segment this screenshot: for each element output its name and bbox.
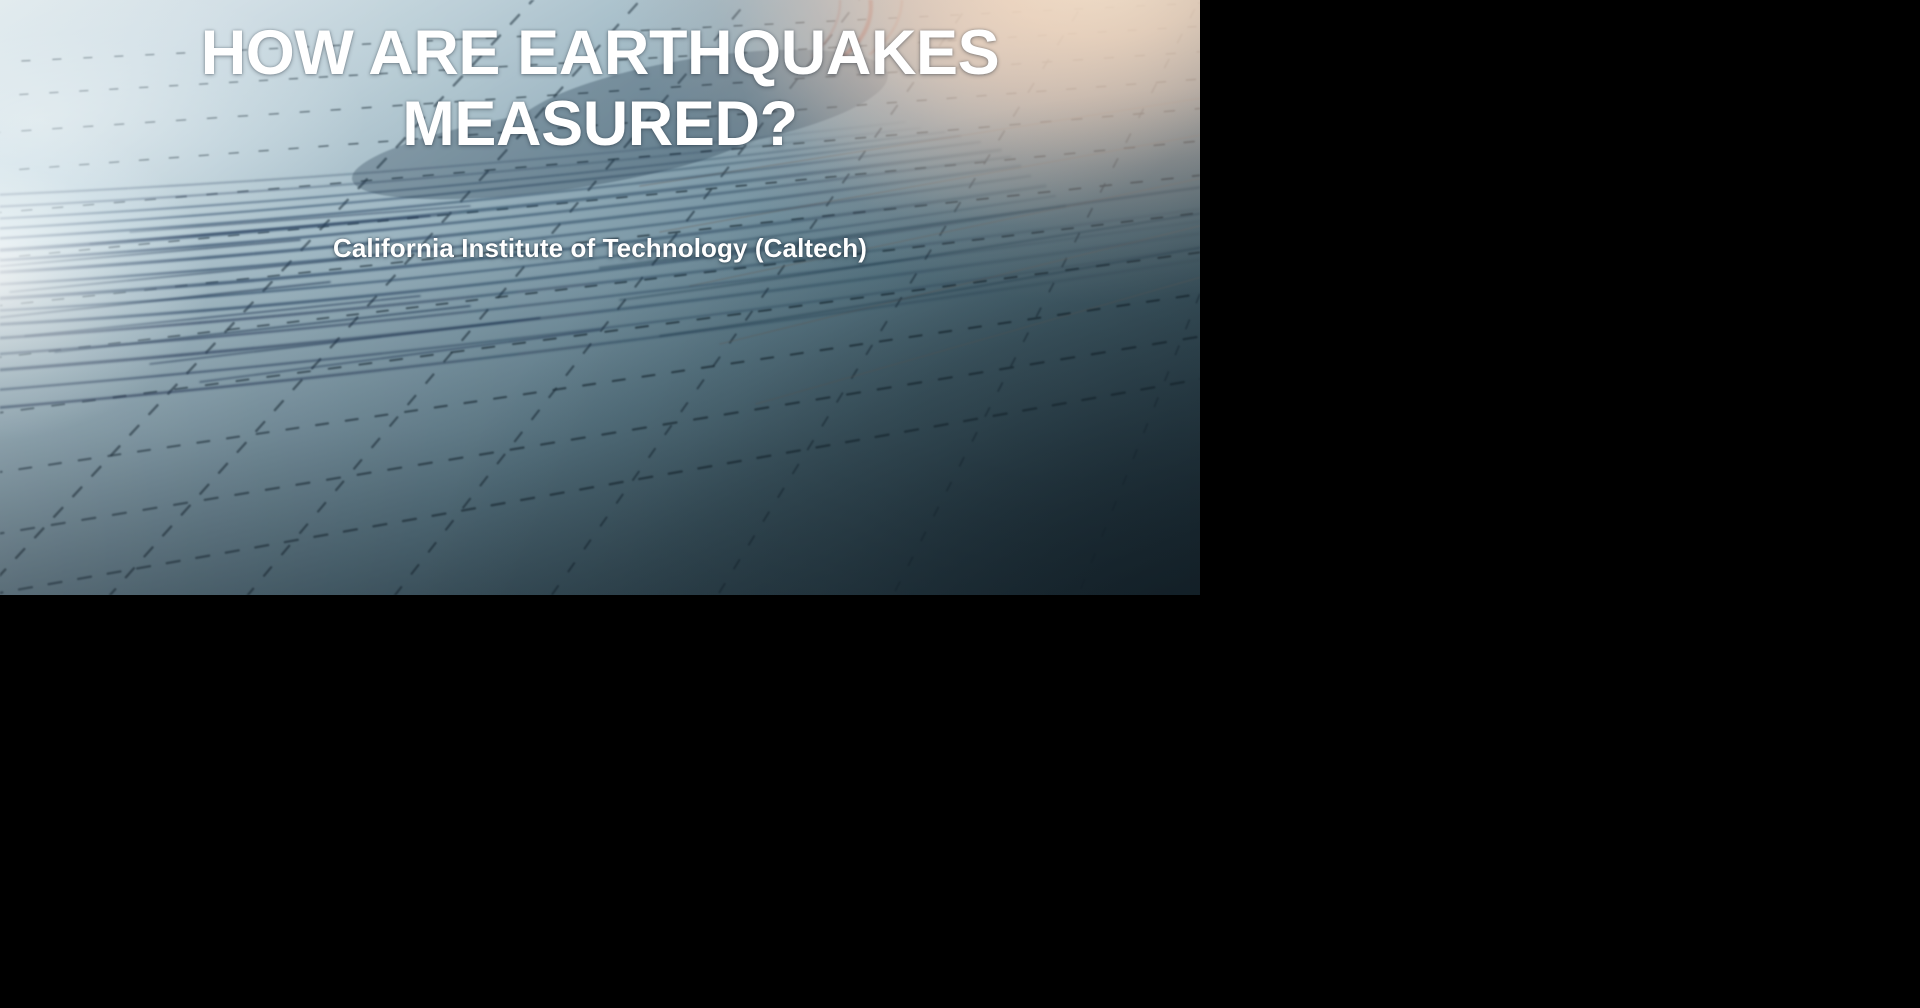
presentation-slide[interactable]: HOW ARE EARTHQUAKES MEASURED? California… <box>0 0 1200 595</box>
empty-area-right <box>1200 0 1920 1008</box>
screen-viewport: HOW ARE EARTHQUAKES MEASURED? California… <box>0 0 1920 1008</box>
slide-subtitle: California Institute of Technology (Calt… <box>60 232 1140 265</box>
empty-area-bottom <box>0 595 1200 1008</box>
slide-title: HOW ARE EARTHQUAKES MEASURED? <box>60 18 1140 160</box>
